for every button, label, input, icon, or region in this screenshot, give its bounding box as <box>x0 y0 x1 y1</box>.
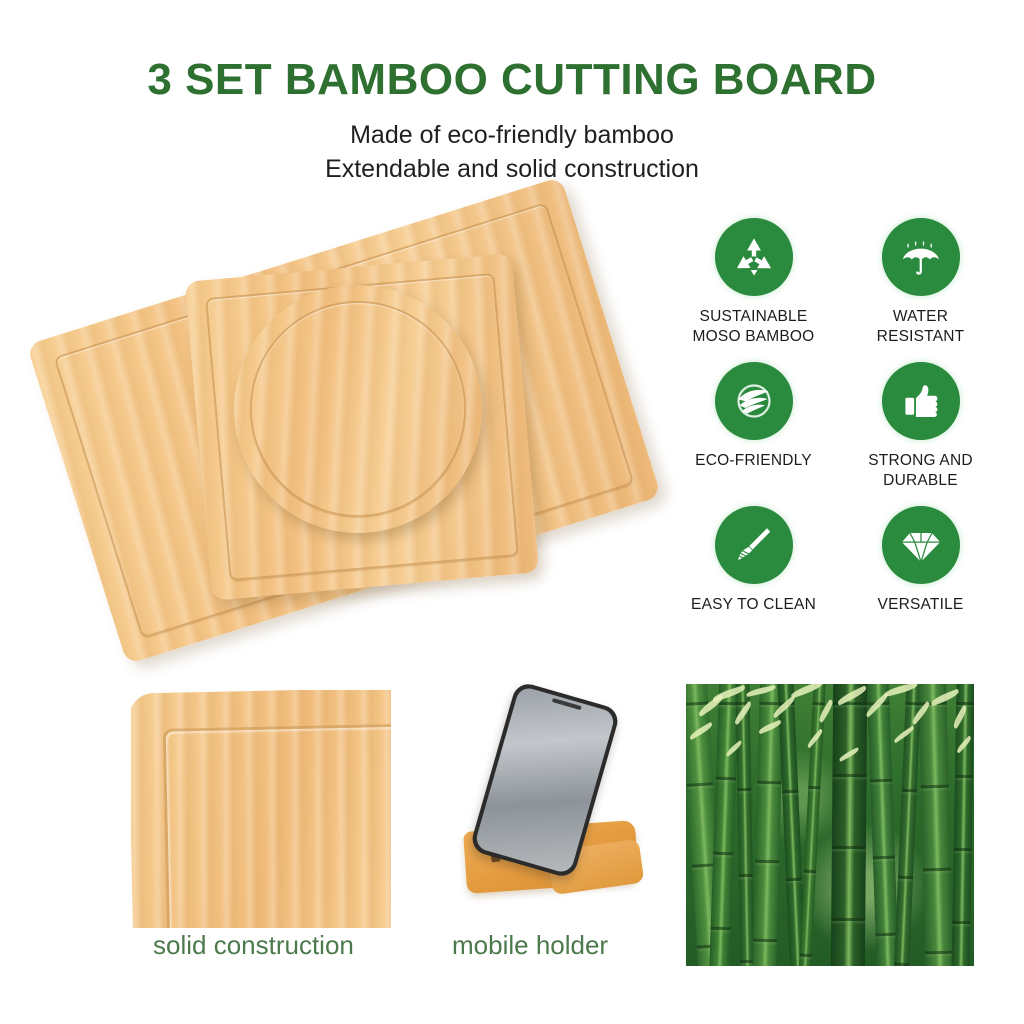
diamond-icon <box>882 506 960 584</box>
feature-label-line-1: EASY TO CLEAN <box>691 596 816 613</box>
feature-label-line-1: ECO-FRIENDLY <box>695 452 812 469</box>
page-title: 3 SET BAMBOO CUTTING BOARD <box>0 58 1024 102</box>
feature-label: WATER RESISTANT <box>877 307 965 348</box>
feature-label-line-2: MOSO BAMBOO <box>693 328 815 345</box>
feature-label: VERSATILE <box>878 595 964 615</box>
feature-label-line-1: SUSTAINABLE <box>700 308 808 325</box>
bamboo-forest-photo <box>686 684 974 966</box>
recycle-icon <box>715 218 793 296</box>
feature-label: SUSTAINABLE MOSO BAMBOO <box>693 307 815 348</box>
solid-construction-caption: solid construction <box>153 930 354 961</box>
bamboo-culm <box>918 684 954 966</box>
feature-item-sustainable: SUSTAINABLE MOSO BAMBOO <box>672 218 835 348</box>
feature-item-strong-durable: STRONG AND DURABLE <box>839 362 1002 492</box>
feature-label-line-1: VERSATILE <box>878 596 964 613</box>
feature-label-line-1: WATER <box>893 308 948 325</box>
bamboo-culm <box>866 684 899 966</box>
feature-label-line-2: RESISTANT <box>877 328 965 345</box>
leaf-icon <box>715 362 793 440</box>
juice-groove <box>163 722 391 928</box>
feature-label: STRONG AND DURABLE <box>868 451 972 492</box>
feature-label-line-1: STRONG AND <box>868 452 972 469</box>
hero-product-photo <box>52 205 672 665</box>
header: 3 SET BAMBOO CUTTING BOARD Made of eco-f… <box>0 58 1024 187</box>
round-board <box>234 285 482 533</box>
mobile-holder-caption: mobile holder <box>452 930 608 961</box>
juice-groove <box>250 301 466 517</box>
feature-label: ECO-FRIENDLY <box>695 451 812 471</box>
bamboo-culm <box>798 684 827 966</box>
subtitle: Made of eco-friendly bamboo Extendable a… <box>0 119 1024 187</box>
subtitle-line-1: Made of eco-friendly bamboo <box>0 119 1024 153</box>
feature-item-eco-friendly: ECO-FRIENDLY <box>672 362 835 492</box>
board-closeup <box>131 690 391 928</box>
feature-item-water-resistant: WATER RESISTANT <box>839 218 1002 348</box>
bamboo-culm <box>893 684 922 966</box>
bamboo-culm <box>735 684 755 966</box>
forest-scene <box>686 684 974 966</box>
bamboo-culm <box>831 684 868 966</box>
feature-item-versatile: VERSATILE <box>839 506 1002 615</box>
mobile-holder-photo <box>447 686 677 931</box>
broom-icon <box>715 506 793 584</box>
solid-construction-photo <box>131 690 391 928</box>
feature-grid: SUSTAINABLE MOSO BAMBOO WATER RESISTANT <box>672 218 1002 615</box>
subtitle-line-2: Extendable and solid construction <box>0 153 1024 187</box>
feature-label-line-2: DURABLE <box>883 472 958 489</box>
feature-label: EASY TO CLEAN <box>691 595 816 615</box>
feature-item-easy-to-clean: EASY TO CLEAN <box>672 506 835 615</box>
infographic-page: 3 SET BAMBOO CUTTING BOARD Made of eco-f… <box>0 0 1024 1024</box>
umbrella-icon <box>882 218 960 296</box>
thumbs-up-icon <box>882 362 960 440</box>
